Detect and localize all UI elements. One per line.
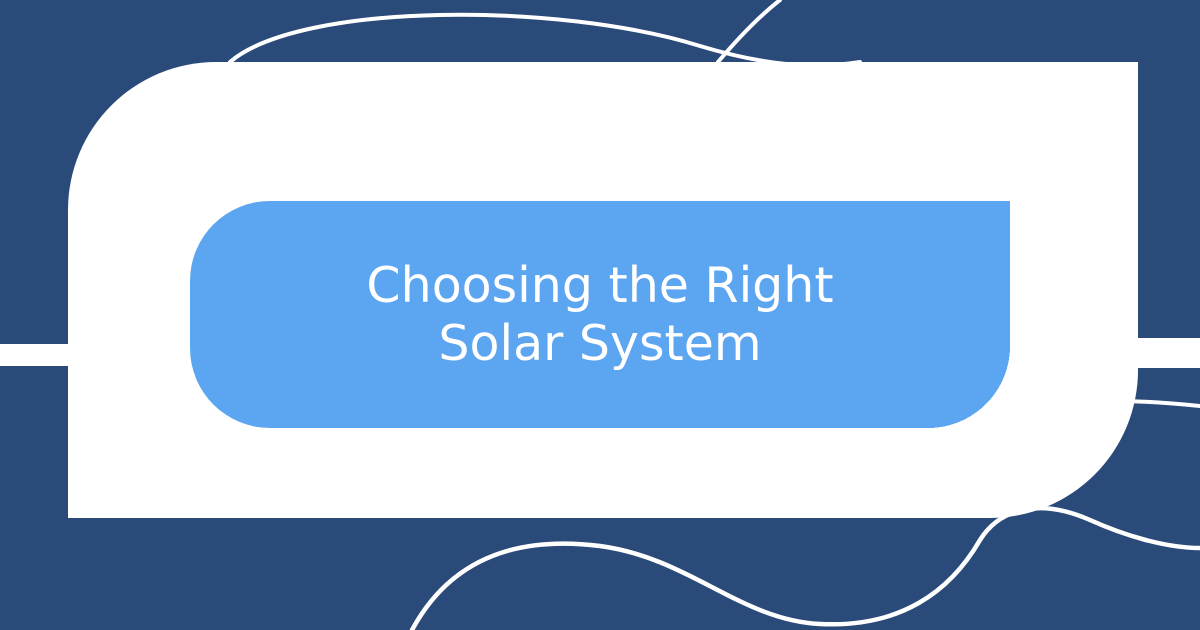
title-panel: Choosing the Right Solar System [190, 201, 1010, 428]
white-band-right [1010, 338, 1200, 368]
white-band-left [0, 344, 190, 366]
slide-canvas: Choosing the Right Solar System [0, 0, 1200, 630]
page-title: Choosing the Right Solar System [326, 257, 873, 373]
